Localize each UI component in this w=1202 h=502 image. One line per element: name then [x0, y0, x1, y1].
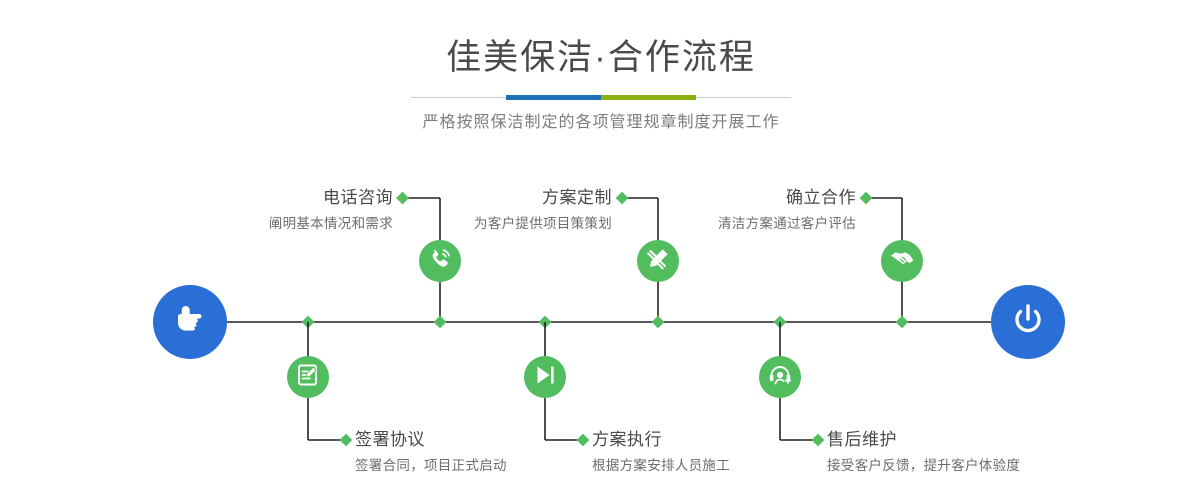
- step-1-label: 电话咨询 阐明基本情况和需求: [158, 186, 393, 233]
- step-3-icon-node[interactable]: [637, 240, 679, 282]
- pencil-ruler-icon: [645, 246, 671, 277]
- pointing-hand-icon: [170, 300, 210, 345]
- step-1-icon-node[interactable]: [419, 240, 461, 282]
- document-edit-icon: [295, 362, 321, 393]
- step-6-icon-node[interactable]: [759, 356, 801, 398]
- power-icon: [1007, 299, 1049, 346]
- step-4-axis-diamond: [652, 316, 665, 329]
- process-flow-diagram: 电话咨询 阐明基本情况和需求 方案定制 为客户提供项目策策划 确立合作 清洁方案…: [0, 0, 1202, 502]
- flow-end-node[interactable]: [991, 285, 1065, 359]
- step-6-desc: 接受客户反馈，提升客户体验度: [827, 456, 1087, 476]
- handshake-icon: [889, 245, 916, 277]
- flow-start-node[interactable]: [153, 285, 227, 359]
- step-3-desc: 为客户提供项目策策划: [380, 214, 612, 234]
- phone-call-icon: [427, 246, 453, 277]
- step-4-desc: 根据方案安排人员施工: [592, 456, 832, 476]
- step-1-desc: 阐明基本情况和需求: [158, 214, 393, 234]
- step-5-label-diamond: [860, 192, 873, 205]
- step-6-label: 售后维护 接受客户反馈，提升客户体验度: [827, 428, 1087, 475]
- step-5-label: 确立合作 清洁方案通过客户评估: [624, 186, 856, 233]
- step-4-label: 方案执行 根据方案安排人员施工: [592, 428, 832, 475]
- step-4-icon-node[interactable]: [524, 356, 566, 398]
- step-3-title: 方案定制: [380, 186, 612, 211]
- step-5-icon-node[interactable]: [881, 240, 923, 282]
- step-6-axis-diamond: [896, 316, 909, 329]
- step-5-desc: 清洁方案通过客户评估: [624, 214, 856, 234]
- customer-service-add-icon: [767, 362, 793, 393]
- flow-connectors: [0, 0, 1202, 502]
- step-6-title: 售后维护: [827, 428, 1087, 453]
- step-2-label-diamond: [340, 434, 353, 447]
- step-2-desc: 签署合同，项目正式启动: [355, 456, 595, 476]
- play-next-icon: [532, 362, 558, 393]
- step-2-axis-diamond: [434, 316, 447, 329]
- step-1-title: 电话咨询: [158, 186, 393, 211]
- step-3-label: 方案定制 为客户提供项目策策划: [380, 186, 612, 233]
- step-2-label: 签署协议 签署合同，项目正式启动: [355, 428, 595, 475]
- step-2-icon-node[interactable]: [287, 356, 329, 398]
- step-2-title: 签署协议: [355, 428, 595, 453]
- step-4-title: 方案执行: [592, 428, 832, 453]
- step-5-title: 确立合作: [624, 186, 856, 211]
